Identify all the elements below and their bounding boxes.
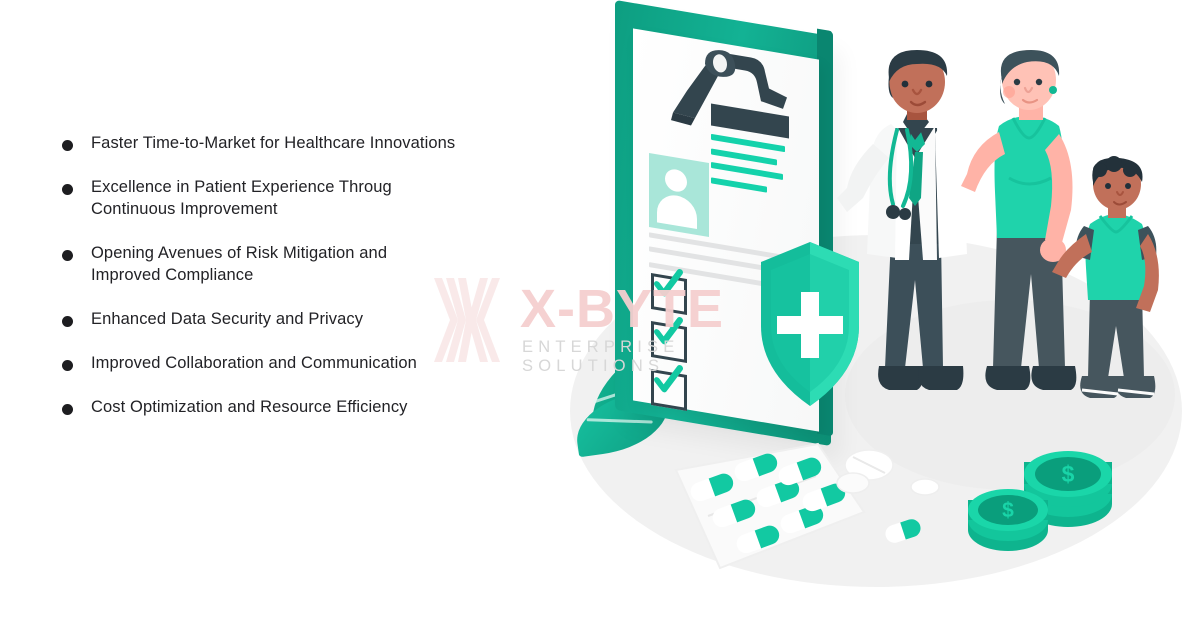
list-item-label: Improved Collaboration and Communication — [91, 352, 417, 374]
avatar-head-icon — [665, 168, 687, 194]
avatar-body-icon — [657, 192, 697, 229]
character-doctor — [845, 48, 985, 426]
bullet-dot-icon — [62, 184, 73, 195]
bullet-dot-icon — [62, 360, 73, 371]
check-icon — [653, 265, 683, 304]
list-item-label: Excellence in Patient Experience Throug … — [91, 176, 392, 220]
benefits-list: Faster Time-to-Market for Healthcare Inn… — [62, 132, 582, 418]
list-item: Improved Collaboration and Communication — [62, 352, 582, 374]
svg-text:$: $ — [1062, 461, 1075, 487]
list-item-label: Opening Avenues of Risk Mitigation and I… — [91, 242, 387, 286]
slide-canvas: Faster Time-to-Market for Healthcare Inn… — [0, 0, 1200, 628]
list-item: Opening Avenues of Risk Mitigation and I… — [62, 242, 582, 286]
list-item-label: Enhanced Data Security and Privacy — [91, 308, 363, 330]
list-item: Faster Time-to-Market for Healthcare Inn… — [62, 132, 582, 154]
tablet-pills — [835, 445, 897, 497]
bullet-dot-icon — [62, 404, 73, 415]
list-item: Cost Optimization and Resource Efficienc… — [62, 396, 582, 418]
capsule-pill — [885, 520, 921, 542]
tablet-pill — [910, 478, 940, 496]
bullet-dot-icon — [62, 316, 73, 327]
check-icon — [653, 313, 683, 352]
character-child — [1070, 160, 1166, 422]
list-item: Excellence in Patient Experience Throug … — [62, 176, 582, 220]
healthcare-illustration: $ $ — [545, 0, 1200, 628]
list-item-label: Faster Time-to-Market for Healthcare Inn… — [91, 132, 455, 154]
bullet-dot-icon — [62, 140, 73, 151]
bullet-dot-icon — [62, 250, 73, 261]
svg-text:$: $ — [1002, 499, 1014, 522]
avatar — [649, 153, 709, 237]
list-item: Enhanced Data Security and Privacy — [62, 308, 582, 330]
coin-stacks: $ $ — [960, 442, 1140, 552]
list-item-label: Cost Optimization and Resource Efficienc… — [91, 396, 408, 418]
check-icon — [653, 361, 683, 400]
